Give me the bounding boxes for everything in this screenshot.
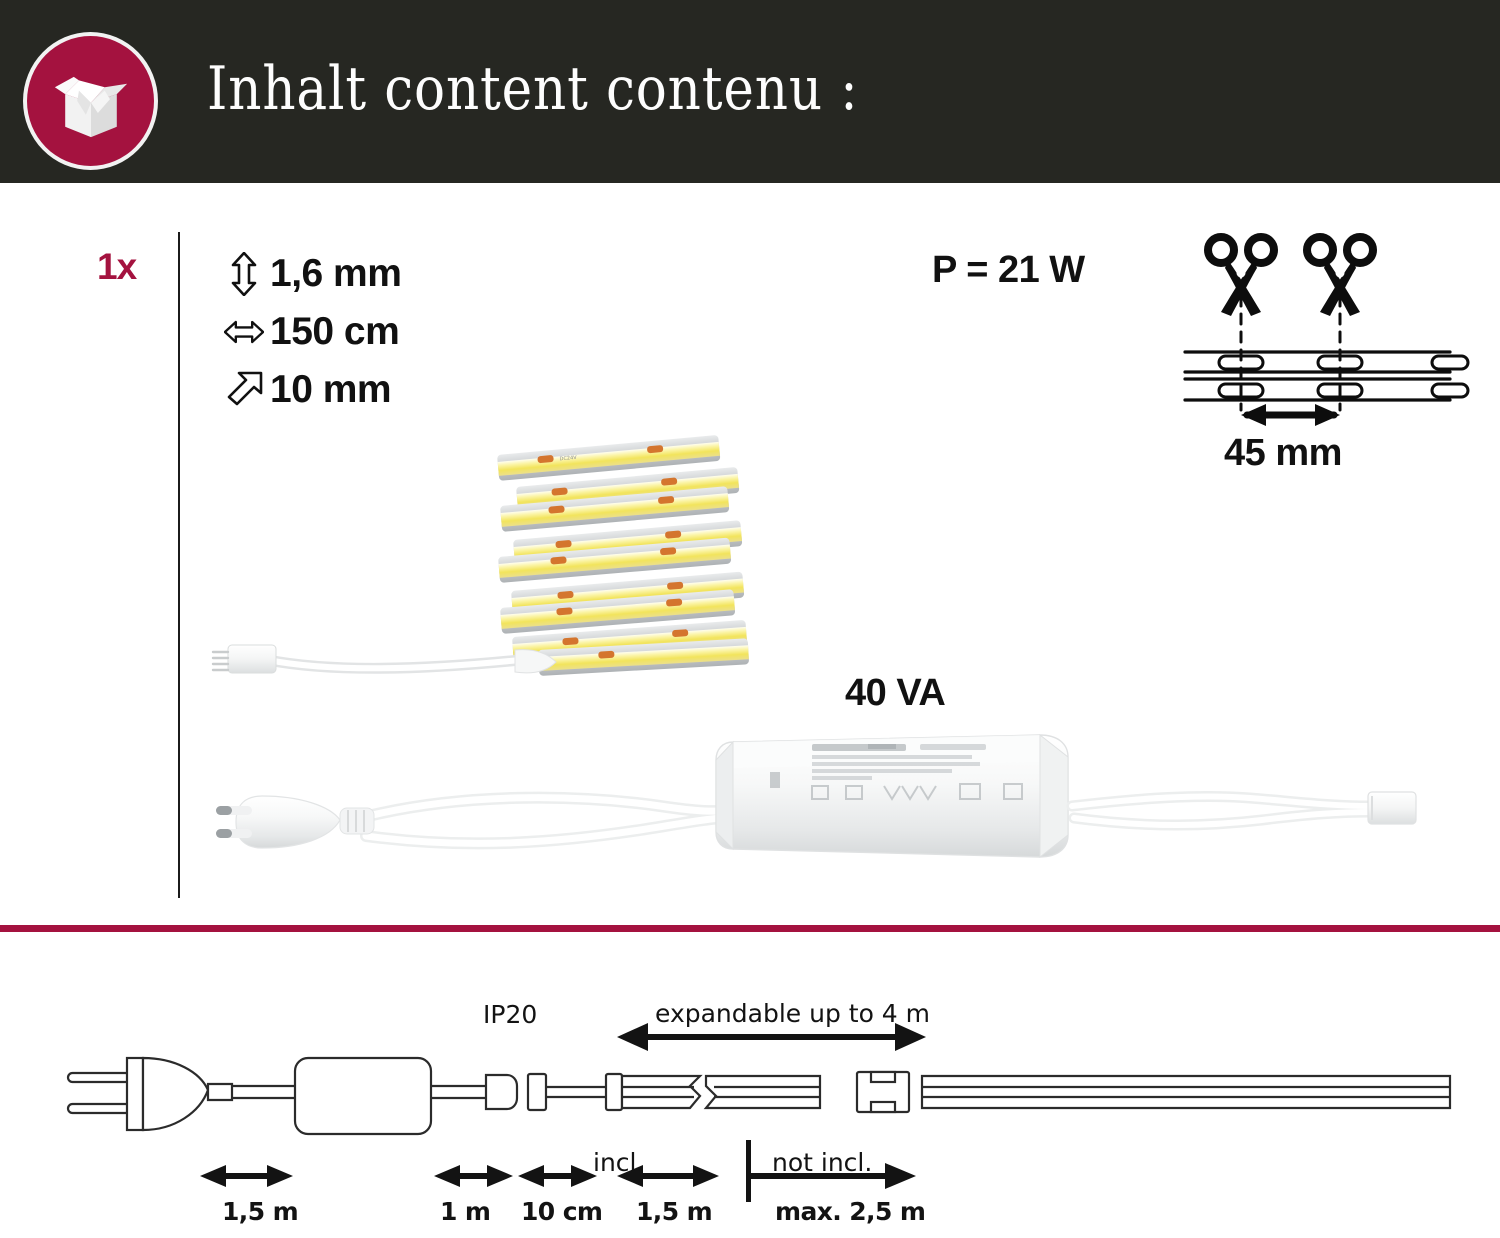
dimension-value: 150 cm — [270, 310, 399, 354]
cut-interval-label: 45 mm — [1224, 432, 1342, 475]
scissors-icon — [1307, 237, 1373, 316]
schematic-strip-segment — [706, 1076, 820, 1108]
length-strip: 1,5 m — [636, 1197, 712, 1226]
ip-rating-label: IP20 — [483, 1000, 537, 1029]
dimension-value: 1,6 mm — [270, 252, 401, 296]
diagonal-arrow-icon — [224, 370, 264, 410]
quantity-label: 1x — [97, 246, 136, 288]
cut-diagram — [1185, 237, 1468, 426]
length-extension-max: max. 2,5 m — [775, 1197, 925, 1226]
schematic-connector-female — [528, 1074, 546, 1110]
output-connector — [1368, 792, 1416, 824]
open-box-icon — [48, 58, 134, 144]
width-arrow-icon — [224, 312, 264, 352]
power-label: P = 21 W — [932, 249, 1085, 292]
euro-plug — [216, 796, 374, 848]
strip-connector — [213, 645, 556, 673]
schematic-strip-segment — [622, 1076, 700, 1108]
dimension-row-depth: 10 mm — [224, 364, 401, 415]
not-included-label: not incl. — [772, 1148, 872, 1177]
driver-body — [716, 735, 1068, 857]
length-driver-out: 1 m — [440, 1197, 490, 1226]
schematic-driver — [295, 1058, 431, 1134]
section-divider — [0, 925, 1500, 932]
vertical-divider — [178, 232, 180, 898]
scissors-icon — [1208, 237, 1274, 316]
dimension-row-width: 150 cm — [224, 306, 401, 357]
dimension-row-height: 1,6 mm — [224, 248, 401, 299]
length-mains-cable: 1,5 m — [222, 1197, 298, 1226]
dimension-value: 10 mm — [270, 368, 391, 412]
led-strip-coil: DC24V — [213, 435, 749, 676]
transformer-rating-label: 40 VA — [845, 672, 945, 715]
height-arrow-icon — [224, 254, 264, 294]
schematic-connector-male — [486, 1075, 517, 1109]
svg-text:DC24V: DC24V — [559, 455, 577, 463]
included-label: incl. — [593, 1148, 644, 1177]
expandable-label: expandable up to 4 m — [655, 999, 930, 1028]
header-badge — [23, 32, 158, 170]
schematic-coupler — [857, 1072, 909, 1112]
system-schematic — [68, 1058, 1450, 1134]
page-title: Inhalt content contenu : — [207, 54, 858, 124]
schematic-plug — [68, 1058, 232, 1130]
length-connector-lead: 10 cm — [521, 1197, 602, 1226]
dimension-list: 1,6 mm 150 cm 10 mm — [224, 248, 401, 422]
led-power-supply — [216, 735, 1416, 857]
schematic-extension-strip — [922, 1076, 1450, 1108]
